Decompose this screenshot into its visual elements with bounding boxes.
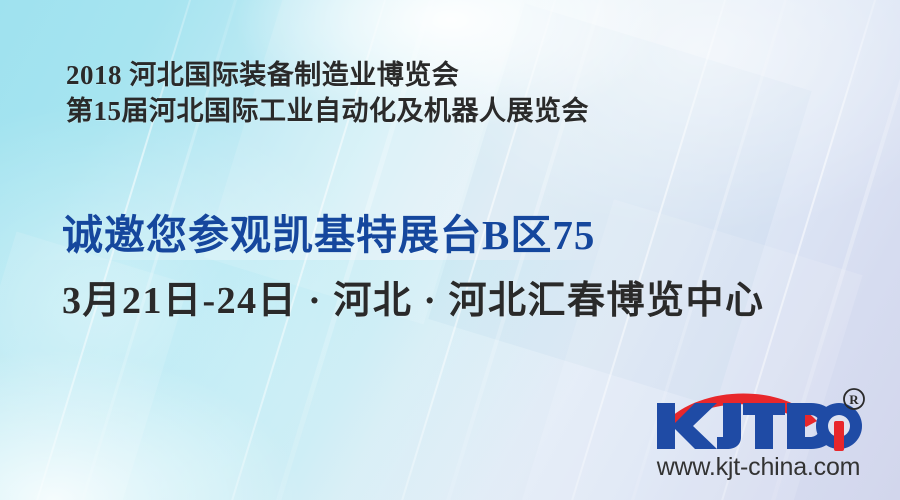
kjtdo-logo-icon: R bbox=[651, 387, 866, 455]
company-website-url[interactable]: www.kjt-china.com bbox=[657, 453, 861, 482]
logo-letter-j bbox=[717, 403, 741, 449]
registered-trademark-letter: R bbox=[849, 392, 859, 407]
invitation-headline: 诚邀您参观凯基特展台B区75 bbox=[62, 207, 765, 263]
event-date-venue-line: 3月21日-24日 · 河北 · 河北汇春博览中心 bbox=[62, 273, 765, 329]
header-line-edition-name: 第15届河北国际工业自动化及机器人展览会 bbox=[66, 93, 589, 129]
main-message-block: 诚邀您参观凯基特展台B区75 3月21日-24日 · 河北 · 河北汇春博览中心 bbox=[62, 207, 765, 329]
header-text-block: 2018 河北国际装备制造业博览会 第15届河北国际工业自动化及机器人展览会 bbox=[66, 57, 589, 129]
logo-red-bar bbox=[834, 421, 844, 451]
header-line-expo-name: 2018 河北国际装备制造业博览会 bbox=[66, 57, 589, 93]
exhibition-invitation-banner: 2018 河北国际装备制造业博览会 第15届河北国际工业自动化及机器人展览会 诚… bbox=[0, 0, 900, 500]
company-logo-block[interactable]: R www.kjt-china.com bbox=[651, 387, 866, 482]
logo-letter-t bbox=[743, 403, 785, 449]
